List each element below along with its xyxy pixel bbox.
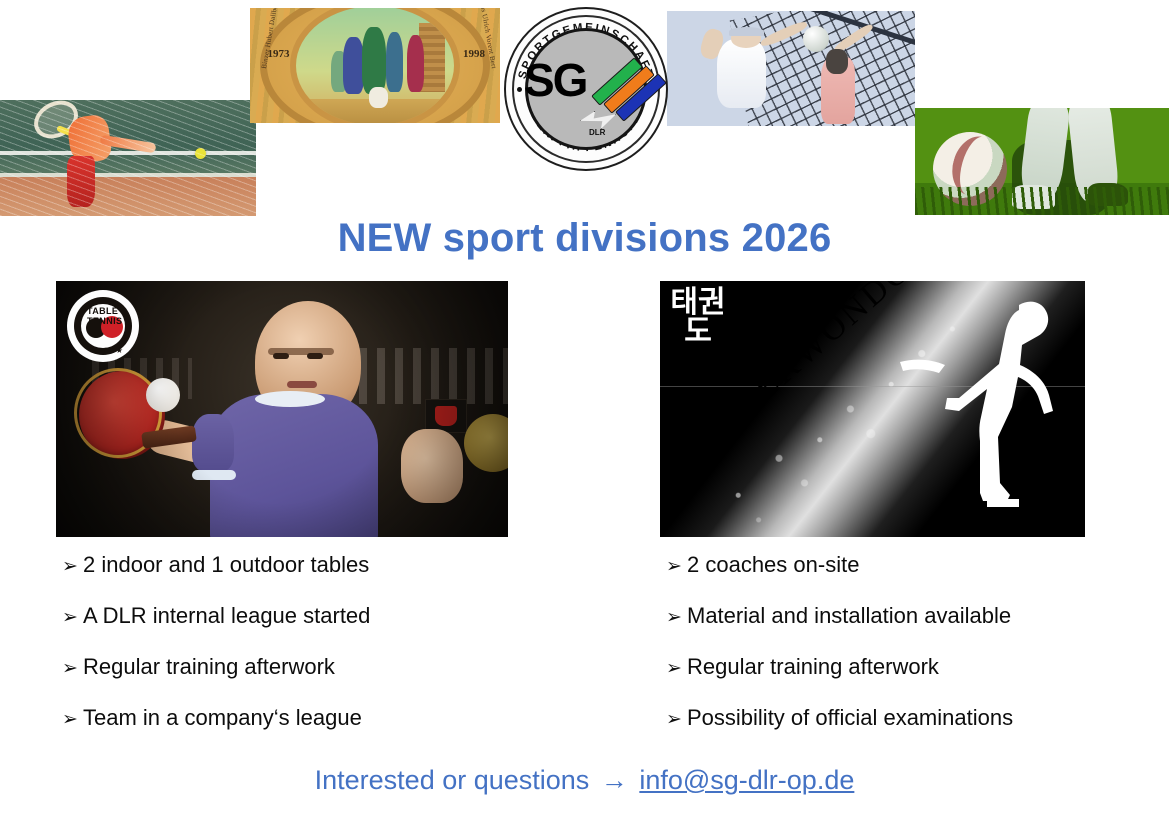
bullet-arrow-icon: ➢ [666,657,687,679]
taekwondo-bullet-list: ➢ 2 coaches on-site ➢ Material and insta… [666,552,1146,756]
bullet-arrow-icon: ➢ [666,555,687,577]
scene-figure [362,27,386,94]
logo-monogram: SG [524,53,586,107]
table-tennis-photo: TABLE TENNIS ★ ★ ★ [56,281,508,537]
dlr-label: DLR [589,128,605,137]
volleyball-player-body [717,39,767,108]
list-item-label: Team in a company‘s league [83,705,532,731]
list-item: ➢ Regular training afterwork [62,654,532,680]
taekwondo-photo: 태권도 TAEKWONDO [660,281,1085,537]
bullet-arrow-icon: ➢ [62,708,83,730]
list-item: ➢ A DLR internal league started [62,603,532,629]
bullet-arrow-icon: ➢ [666,708,687,730]
footer-contact-line: Interested or questions → info@sg-dlr-op… [0,765,1169,796]
football-grass-blades [915,187,1169,215]
badge-stars: ★ ★ ★ [89,346,125,355]
page-title: NEW sport divisions 2026 [0,216,1169,261]
list-item-label: Regular training afterwork [687,654,1146,680]
slide-canvas: 1973 1998 Binzer Hubert Dallberg Rolf Fa… [0,0,1169,826]
barrel-plaque-photo: 1973 1998 Binzer Hubert Dallberg Rolf Fa… [250,8,500,123]
list-item-label: Regular training afterwork [83,654,532,680]
table-tennis-bullet-list: ➢ 2 indoor and 1 outdoor tables ➢ A DLR … [62,552,532,756]
list-item-label: A DLR internal league started [83,603,532,629]
scene-figure [386,32,403,92]
list-item: ➢ Material and installation available [666,603,1146,629]
footer-prompt: Interested or questions [315,765,590,795]
scene-figure [343,37,364,94]
list-item: ➢ Team in a company‘s league [62,705,532,731]
barrel-inner-scene [290,8,460,123]
scene-figure [407,35,424,92]
tennis-paint-texture [0,100,256,216]
tkd-hangul-text: 태권도 [670,289,726,347]
email-link[interactable]: info@sg-dlr-op.de [639,765,854,795]
volleyball-player-cap [729,27,764,36]
bullet-arrow-icon: ➢ [62,555,83,577]
list-item-label: 2 indoor and 1 outdoor tables [83,552,532,578]
right-arrow-icon: → [597,765,632,795]
volleyball-opponent-head [826,49,848,74]
sg-oberpfaffenhofen-logo: SPORTGEMEINSCHAFT OBERPFAFFENHOFEN SG DL… [504,7,668,171]
bullet-arrow-icon: ➢ [62,657,83,679]
list-item-label: 2 coaches on-site [687,552,1146,578]
list-item: ➢ Regular training afterwork [666,654,1146,680]
bullet-arrow-icon: ➢ [62,606,83,628]
list-item: ➢ 2 coaches on-site [666,552,1146,578]
tkd-kicking-silhouette-icon [869,281,1079,525]
list-item-label: Material and installation available [687,603,1146,629]
bullet-arrow-icon: ➢ [666,606,687,628]
list-item: ➢ 2 indoor and 1 outdoor tables [62,552,532,578]
dlr-bolt-icon [580,111,616,129]
volleyball-photo [667,11,915,126]
barrel-year-right: 1998 [463,48,485,60]
list-item: ➢ Possibility of official examinations [666,705,1146,731]
logo-dot [517,87,522,92]
dlr-logo-icon: DLR [580,111,620,137]
football-photo [915,108,1169,215]
tennis-photo [0,100,256,216]
badge-title: TABLE TENNIS [87,306,139,326]
table-tennis-badge-logo: TABLE TENNIS ★ ★ ★ [67,290,139,362]
list-item-label: Possibility of official examinations [687,705,1146,731]
scene-dog [369,87,388,108]
